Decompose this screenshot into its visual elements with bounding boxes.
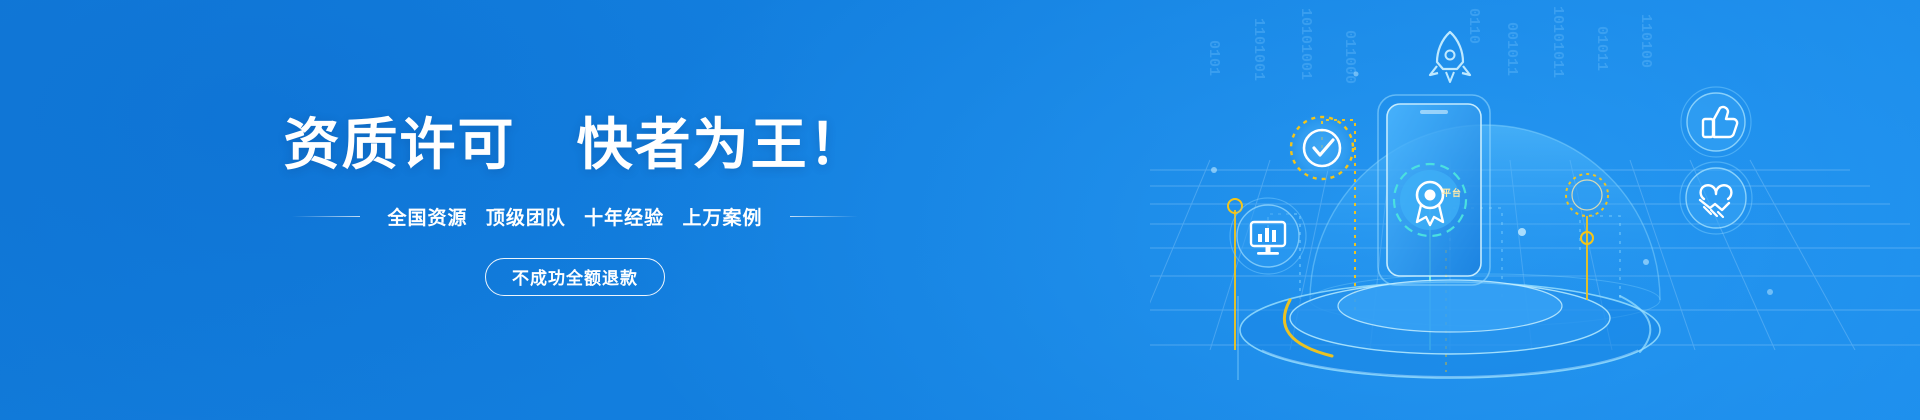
page-title: 资质许可 快者为王！ <box>283 117 866 173</box>
subtitle-text: 全国资源 顶级团队 十年经验 上万案例 <box>382 203 769 230</box>
headline-part-2: 快者为王！ <box>577 113 867 176</box>
binary-texture: 0101 1101001 10101001 011000 0110 001011… <box>1205 6 1654 84</box>
subtitle-item-3: 上万案例 <box>682 208 762 229</box>
refund-guarantee-button[interactable]: 不成功全额退款 <box>485 258 665 296</box>
svg-text:10101001: 10101001 <box>1297 8 1314 80</box>
rocket-icon <box>1430 32 1470 82</box>
divider-right <box>790 216 858 217</box>
check-circle-icon <box>1288 114 1356 182</box>
subtitle-row: 全国资源 顶级团队 十年经验 上万案例 <box>292 203 859 230</box>
banner-copy: 资质许可 快者为王！ 全国资源 顶级团队 十年经验 上万案例 不成功全额退款 <box>0 0 1150 420</box>
thumbs-up-icon <box>1681 87 1751 157</box>
svg-text:110100: 110100 <box>1637 14 1654 68</box>
svg-text:0101: 0101 <box>1205 40 1222 76</box>
svg-text:001011: 001011 <box>1503 22 1520 76</box>
monitor-chart-icon <box>1230 198 1306 274</box>
handshake-heart-icon <box>1680 162 1752 234</box>
hero-illustration: 0101 1101001 10101001 011000 0110 001011… <box>1150 0 1920 420</box>
svg-text:1101001: 1101001 <box>1250 18 1267 81</box>
promo-banner: 0101 1101001 10101001 011000 0110 001011… <box>0 0 1920 420</box>
svg-text:01011: 01011 <box>1593 26 1610 71</box>
subtitle-item-0: 全国资源 <box>388 208 468 229</box>
subtitle-item-1: 顶级团队 <box>486 208 566 229</box>
subtitle-item-2: 十年经验 <box>584 208 664 229</box>
svg-text:10101011: 10101011 <box>1549 6 1566 78</box>
svg-text:0110: 0110 <box>1465 8 1482 44</box>
divider-left <box>292 216 360 217</box>
platform-label: 平台 <box>1442 186 1462 199</box>
headline-part-1: 资质许可 <box>283 113 515 176</box>
